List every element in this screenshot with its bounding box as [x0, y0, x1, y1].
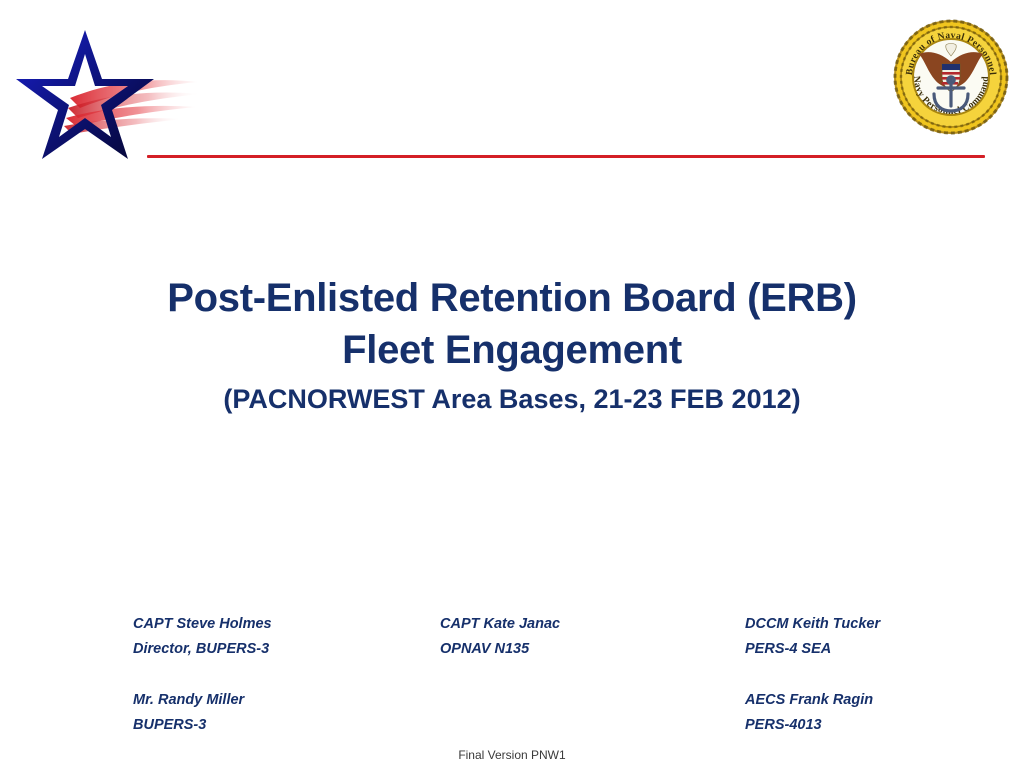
title-block: Post-Enlisted Retention Board (ERB) Flee…: [0, 272, 1024, 418]
presenter-role: Director, BUPERS-3: [133, 637, 272, 662]
header-red-rule: [147, 155, 985, 158]
presenter-entry: AECS Frank Ragin PERS-4013: [745, 688, 880, 738]
presenter-column-2: CAPT Kate Janac OPNAV N135: [440, 612, 560, 688]
presenter-name: CAPT Kate Janac: [440, 612, 560, 637]
presenter-name: AECS Frank Ragin: [745, 688, 880, 713]
presenter-role: PERS-4 SEA: [745, 637, 880, 662]
page-title-line-2: Fleet Engagement: [0, 324, 1024, 376]
presenter-list: CAPT Steve Holmes Director, BUPERS-3 Mr.…: [0, 612, 1024, 742]
presenter-entry: DCCM Keith Tucker PERS-4 SEA: [745, 612, 880, 662]
page-subtitle: (PACNORWEST Area Bases, 21-23 FEB 2012): [0, 380, 1024, 418]
presenter-name: Mr. Randy Miller: [133, 688, 272, 713]
presenter-column-3: DCCM Keith Tucker PERS-4 SEA AECS Frank …: [745, 612, 880, 764]
presenter-role: PERS-4013: [745, 713, 880, 738]
navy-personnel-command-seal: Bureau of Naval Personnel Navy Personnel…: [892, 18, 1010, 136]
presenter-entry: CAPT Kate Janac OPNAV N135: [440, 612, 560, 662]
presenter-role: OPNAV N135: [440, 637, 560, 662]
presenter-name: CAPT Steve Holmes: [133, 612, 272, 637]
navy-star-swoosh-logo: [2, 24, 232, 164]
presenter-entry: CAPT Steve Holmes Director, BUPERS-3: [133, 612, 272, 662]
header-band: Bureau of Naval Personnel Navy Personnel…: [0, 0, 1024, 180]
presenter-entry: Mr. Randy Miller BUPERS-3: [133, 688, 272, 738]
presenter-column-1: CAPT Steve Holmes Director, BUPERS-3 Mr.…: [133, 612, 272, 764]
presenter-name: DCCM Keith Tucker: [745, 612, 880, 637]
presenter-role: BUPERS-3: [133, 713, 272, 738]
page-title-line-1: Post-Enlisted Retention Board (ERB): [0, 272, 1024, 324]
footer-version-note: Final Version PNW1: [0, 748, 1024, 762]
